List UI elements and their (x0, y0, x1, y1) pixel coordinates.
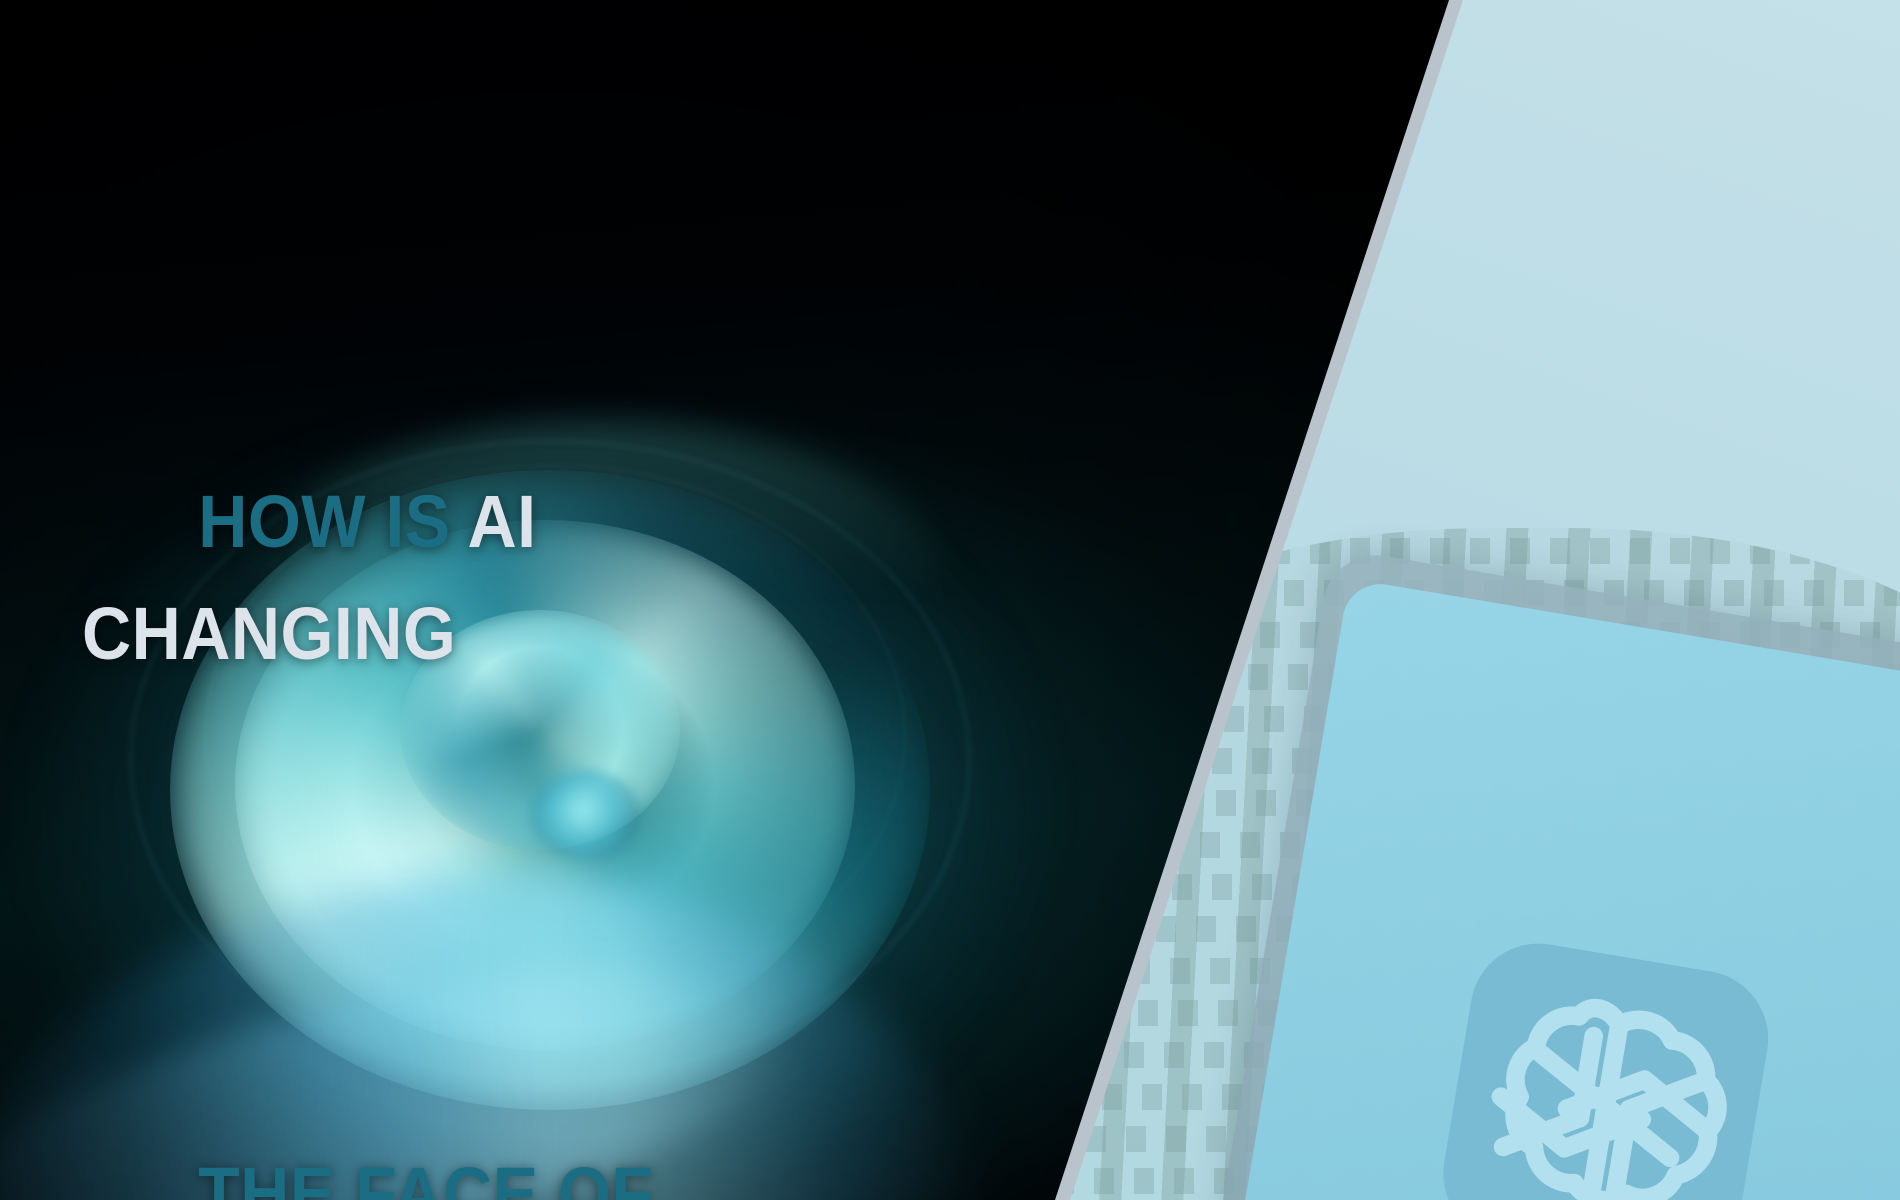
device-screen (1235, 578, 1900, 1200)
headline-seg-teal-1: HOW IS (198, 480, 467, 563)
openai-app-icon[interactable] (1433, 933, 1778, 1200)
headline-seg-teal-2: THE FACE OF (198, 1152, 673, 1200)
poster-canvas: HOW IS AI CHANGING THE FACE OF INTERNET … (0, 0, 1900, 1200)
page-title: HOW IS AI CHANGING THE FACE OF INTERNET … (82, 130, 910, 1200)
headline-line-1: HOW IS AI CHANGING (82, 354, 910, 802)
smartphone-device (1213, 547, 1900, 1200)
headline-line-2: THE FACE OF INTERNET (82, 1026, 910, 1200)
openai-logo-icon (1433, 933, 1778, 1200)
